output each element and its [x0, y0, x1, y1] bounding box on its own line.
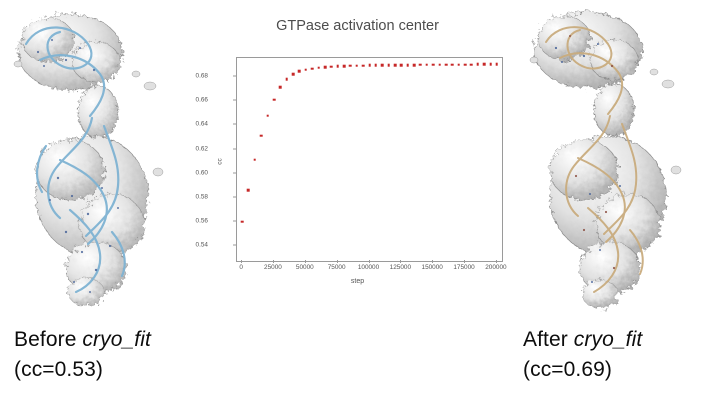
y-tick-label: 0.56 — [196, 218, 208, 225]
chart-x-axis-label: step — [205, 278, 510, 285]
data-point — [470, 63, 473, 66]
data-point — [464, 63, 467, 66]
data-point — [406, 64, 409, 67]
x-tick-label: 175000 — [453, 264, 474, 271]
data-point — [273, 99, 276, 102]
data-point — [451, 63, 454, 66]
density-upper-lobe — [534, 12, 642, 88]
data-point — [324, 66, 327, 69]
data-point — [266, 114, 269, 117]
y-tick-label: 0.54 — [196, 242, 208, 249]
caption-after-cc: (cc=0.69) — [523, 355, 642, 385]
caption-after-tool: cryo_fit — [574, 328, 643, 351]
caption-after: After cryo_fit (cc=0.69) — [523, 325, 642, 385]
x-tick-label: 50000 — [296, 264, 314, 271]
data-point — [496, 63, 499, 66]
y-tick-mark — [233, 221, 236, 222]
data-point — [343, 65, 346, 68]
data-point — [349, 64, 352, 67]
data-point — [381, 64, 384, 67]
cc-vs-step-chart: GTPase activation center cc 0.540.560.58… — [205, 6, 510, 301]
y-tick-label: 0.58 — [196, 193, 208, 200]
data-point — [330, 65, 333, 68]
data-point — [279, 86, 282, 89]
data-point — [285, 78, 288, 81]
data-point — [394, 64, 397, 67]
x-tick-label: 100000 — [358, 264, 379, 271]
x-tick-mark — [305, 260, 306, 263]
y-tick-mark — [233, 75, 236, 76]
x-tick-label: 0 — [239, 264, 243, 271]
data-point — [438, 63, 441, 66]
chart-data-points — [237, 58, 502, 261]
data-point — [355, 64, 358, 67]
data-point — [457, 63, 460, 66]
density-neck — [594, 84, 634, 136]
data-point — [336, 65, 339, 68]
data-point — [400, 64, 403, 67]
data-point — [292, 73, 295, 76]
x-tick-mark — [241, 260, 242, 263]
caption-before-prefix: Before — [14, 328, 82, 351]
y-tick-label: 0.66 — [196, 97, 208, 104]
x-tick-label: 75000 — [328, 264, 346, 271]
y-tick-label: 0.64 — [196, 121, 208, 128]
data-point — [483, 63, 486, 66]
chart-y-axis-label: cc — [217, 158, 224, 164]
y-tick-mark — [233, 196, 236, 197]
data-point — [311, 67, 314, 70]
structure-after-cryofit-render — [510, 0, 720, 318]
x-tick-label: 150000 — [422, 264, 443, 271]
structure-after-cryofit — [510, 0, 720, 318]
data-point — [254, 159, 257, 162]
data-point — [432, 63, 435, 66]
x-tick-mark — [464, 260, 465, 263]
data-point — [298, 70, 301, 73]
x-tick-mark — [273, 260, 274, 263]
structure-before-cryofit-render — [0, 0, 205, 318]
x-tick-mark — [369, 260, 370, 263]
density-upper-lobe — [18, 14, 122, 90]
y-tick-mark — [233, 172, 236, 173]
caption-before-tool: cryo_fit — [82, 328, 151, 351]
caption-before: Before cryo_fit (cc=0.53) — [14, 325, 151, 385]
caption-before-cc: (cc=0.53) — [14, 355, 151, 385]
data-point — [426, 63, 429, 66]
y-tick-label: 0.60 — [196, 169, 208, 176]
data-point — [317, 66, 320, 69]
data-point — [445, 63, 448, 66]
y-tick-label: 0.68 — [196, 72, 208, 79]
x-tick-label: 200000 — [485, 264, 506, 271]
data-point — [375, 64, 378, 67]
chart-plot-area — [236, 57, 503, 262]
data-point — [476, 63, 479, 66]
x-tick-label: 125000 — [390, 264, 411, 271]
structure-before-cryofit — [0, 0, 205, 318]
data-point — [247, 189, 250, 192]
y-tick-mark — [233, 245, 236, 246]
data-point — [387, 64, 390, 67]
y-tick-mark — [233, 124, 236, 125]
x-tick-mark — [400, 260, 401, 263]
y-tick-label: 0.62 — [196, 145, 208, 152]
data-point — [489, 63, 492, 66]
x-tick-mark — [337, 260, 338, 263]
y-tick-mark — [233, 148, 236, 149]
density-neck — [78, 86, 118, 138]
data-point — [305, 68, 308, 71]
data-point — [368, 64, 371, 67]
x-tick-mark — [432, 260, 433, 263]
chart-title: GTPase activation center — [205, 18, 510, 34]
data-point — [413, 64, 416, 67]
caption-after-prefix: After — [523, 328, 574, 351]
data-point — [419, 63, 422, 66]
x-tick-mark — [496, 260, 497, 263]
data-point — [260, 134, 263, 137]
data-point — [362, 64, 365, 67]
y-tick-mark — [233, 100, 236, 101]
x-tick-label: 25000 — [264, 264, 282, 271]
data-point — [241, 220, 244, 223]
